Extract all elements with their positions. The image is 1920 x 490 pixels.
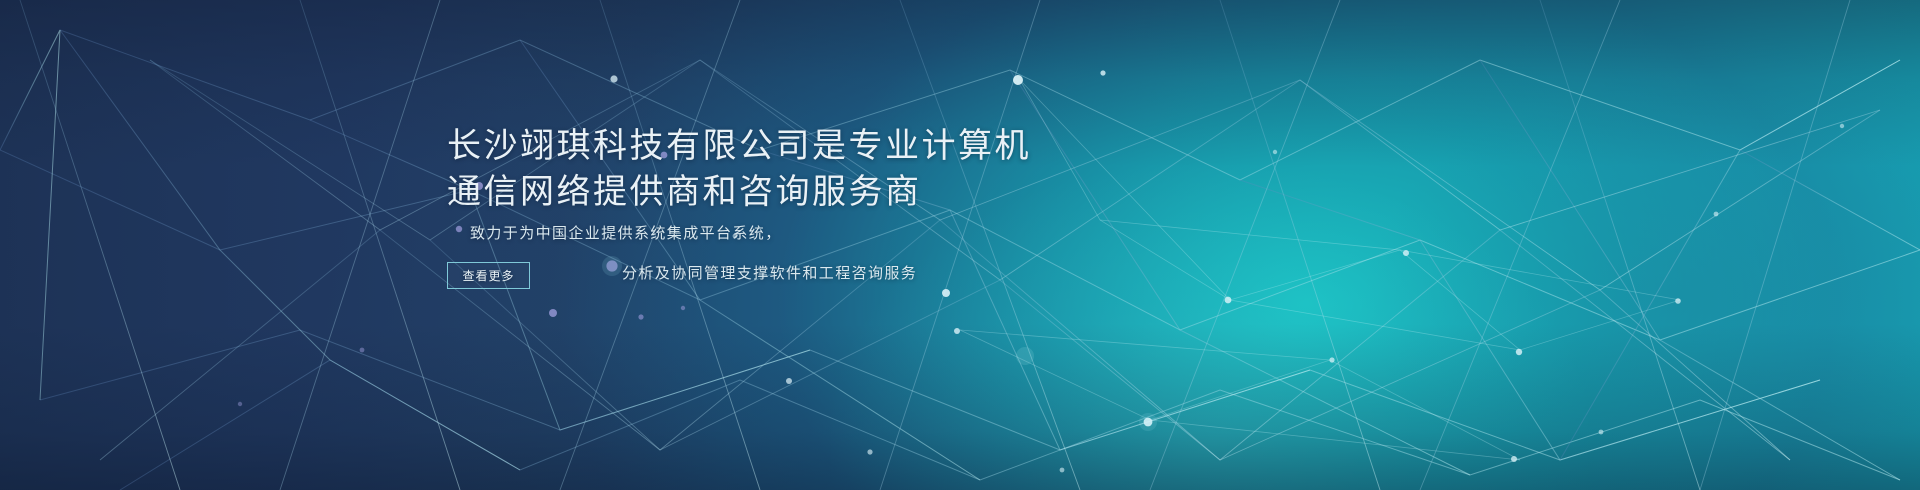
view-more-button-label: 查看更多 (462, 267, 514, 284)
banner-subtitle: 致力于为中国企业提供系统集成平台系统， 分析及协同管理支撑软件和工程咨询服务 (470, 214, 917, 294)
headline-line-2: 通信网络提供商和咨询服务商 (447, 170, 1031, 216)
subtitle-line-1: 致力于为中国企业提供系统集成平台系统， (470, 214, 917, 254)
subtitle-line-2: 分析及协同管理支撑软件和工程咨询服务 (622, 254, 917, 294)
view-more-button[interactable]: 查看更多 (447, 262, 530, 289)
banner-headline: 长沙翊琪科技有限公司是专业计算机 通信网络提供商和咨询服务商 (447, 124, 1031, 216)
headline-line-1: 长沙翊琪科技有限公司是专业计算机 (447, 124, 1031, 170)
hero-banner: 长沙翊琪科技有限公司是专业计算机 通信网络提供商和咨询服务商 致力于为中国企业提… (0, 0, 1920, 490)
banner-content: 长沙翊琪科技有限公司是专业计算机 通信网络提供商和咨询服务商 致力于为中国企业提… (0, 0, 1920, 490)
